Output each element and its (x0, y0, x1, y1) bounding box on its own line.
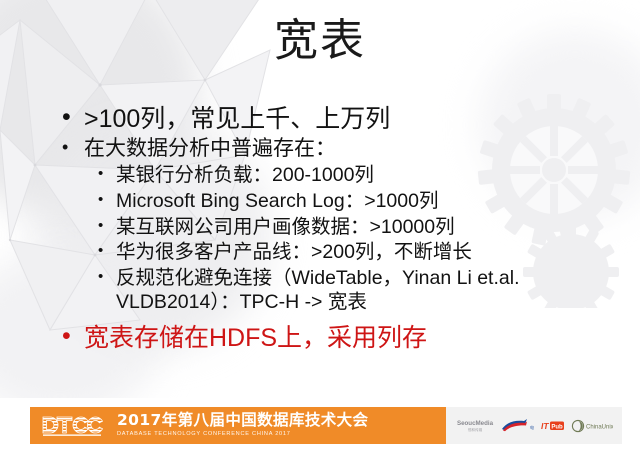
bullet-marker-icon: • (98, 266, 116, 284)
bullet-item-emphasis: • 宽表存储在HDFS上，采用列存 (62, 323, 600, 354)
bullet-marker-icon: • (62, 323, 84, 349)
svg-text:Pub: Pub (551, 424, 563, 430)
sponsor-logo-itpub: IT Pub (540, 416, 566, 436)
bullet-text: 在大数据分析中普遍存在： (84, 136, 600, 162)
sponsor-logo-telecom: 电信 (500, 416, 534, 436)
bullet-item: • >100列，常见上千、上万列 (62, 104, 600, 135)
bullet-marker-icon: • (62, 104, 84, 130)
bullet-item: • Microsoft Bing Search Log：>1000列 (98, 189, 600, 214)
slide-canvas: 宽表 • >100列，常见上千、上万列 • 在大数据分析中普遍存在： • 某银行… (0, 0, 640, 452)
bullet-item: • 华为很多客户产品线：>200列，不断增长 (98, 240, 600, 265)
sponsor-logo-seoucmedia: SeoucMedia 恒和传媒 (455, 416, 495, 436)
svg-text:恒和传媒: 恒和传媒 (468, 427, 483, 432)
conference-banner: 2017年第八届中国数据库技术大会 DATABASE TECHNOLOGY CO… (30, 407, 446, 444)
sponsor-logo-strip: SeoucMedia 恒和传媒 电信 IT Pub (446, 407, 622, 444)
svg-text:电信: 电信 (530, 424, 534, 430)
bullet-list: • >100列，常见上千、上万列 • 在大数据分析中普遍存在： • 某银行分析负… (62, 104, 600, 354)
conference-title-cn: 2017年第八届中国数据库技术大会 (117, 413, 368, 429)
bullet-text: >100列，常见上千、上万列 (84, 104, 600, 135)
sponsor-logo-chinaunix: ChinaUnix (571, 416, 613, 436)
bullet-marker-icon: • (98, 240, 116, 258)
bullet-item: • 在大数据分析中普遍存在： (62, 136, 600, 162)
conference-title-en: DATABASE TECHNOLOGY CONFERENCE CHINA 201… (117, 432, 368, 438)
bullet-text: 某互联网公司用户画像数据：>10000列 (116, 215, 600, 240)
bullet-marker-icon: • (98, 189, 116, 207)
bullet-text: 宽表存储在HDFS上，采用列存 (84, 323, 600, 354)
svg-text:IT: IT (541, 421, 549, 431)
bullet-marker-icon: • (98, 163, 116, 181)
bullet-item: • 反规范化避免连接（WideTable，Yinan Li et.al. VLD… (98, 266, 600, 315)
slide-title: 宽表 (0, 16, 640, 67)
dtcc-logo-icon (42, 415, 104, 437)
bullet-item: • 某互联网公司用户画像数据：>10000列 (98, 215, 600, 240)
bullet-marker-icon: • (62, 136, 84, 156)
bullet-text: 某银行分析负载：200-1000列 (116, 163, 600, 188)
bullet-text: Microsoft Bing Search Log：>1000列 (116, 189, 600, 214)
svg-text:SeoucMedia: SeoucMedia (457, 420, 494, 427)
bullet-text: 反规范化避免连接（WideTable，Yinan Li et.al. VLDB2… (116, 266, 600, 315)
bullet-text: 华为很多客户产品线：>200列，不断增长 (116, 240, 600, 265)
conference-title-block: 2017年第八届中国数据库技术大会 DATABASE TECHNOLOGY CO… (117, 413, 368, 437)
bullet-marker-icon: • (98, 215, 116, 233)
slide-footer: 2017年第八届中国数据库技术大会 DATABASE TECHNOLOGY CO… (0, 398, 640, 452)
bullet-item: • 某银行分析负载：200-1000列 (98, 163, 600, 188)
svg-text:ChinaUnix: ChinaUnix (586, 424, 613, 430)
